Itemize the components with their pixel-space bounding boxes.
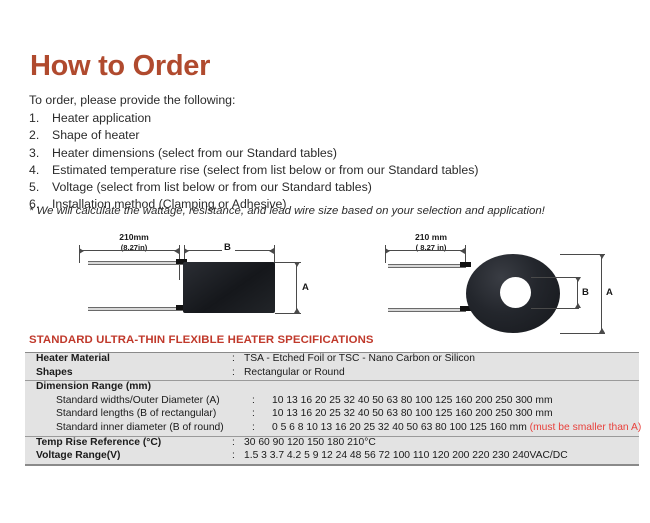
row-separator: : — [232, 450, 244, 461]
intro-text: To order, please provide the following: — [29, 93, 235, 107]
round-a-dim-line — [601, 254, 602, 333]
row-separator: : — [232, 353, 244, 364]
round-b-arrow-bottom — [575, 303, 581, 308]
row-label: Dimension Range (mm) — [25, 381, 232, 392]
row-value-text: 0 5 6 8 10 13 16 20 25 32 40 50 63 80 10… — [272, 422, 527, 433]
row-value-warning: (must be smaller than A) — [530, 422, 642, 433]
rect-lead-wire-bottom — [88, 307, 184, 311]
rect-lead-wire-top — [88, 261, 184, 265]
row-label: Standard lengths (B of rectangular) — [25, 408, 252, 419]
list-item: 5. Voltage (select from list below or fr… — [29, 179, 629, 196]
spec-table: Heater Material : TSA - Etched Foil or T… — [25, 352, 639, 466]
list-item-number: 3. — [29, 145, 52, 162]
round-lead-wire-bottom — [388, 308, 466, 312]
rect-a-dim-line — [296, 262, 297, 313]
row-separator: : — [252, 408, 264, 419]
row-value: 10 13 16 20 25 32 40 50 63 80 100 125 16… — [264, 395, 639, 406]
row-separator: : — [252, 395, 264, 406]
row-label: Voltage Range(V) — [25, 450, 232, 461]
row-label: Heater Material — [25, 353, 232, 364]
list-item-number: 2. — [29, 127, 52, 144]
row-label: Standard inner diameter (B of round) — [25, 422, 252, 433]
row-label: Shapes — [25, 367, 232, 378]
order-steps-list: 1. Heater application 2. Shape of heater… — [29, 110, 629, 214]
row-value: Rectangular or Round — [244, 367, 639, 378]
round-lead-wire-top — [388, 264, 466, 268]
row-separator: : — [252, 422, 264, 433]
list-item-label: Heater application — [52, 110, 629, 127]
round-b-ext-bottom — [531, 308, 579, 309]
round-outer-label: A — [606, 287, 613, 298]
round-b-ext-top — [531, 277, 579, 278]
rect-b-ext-right — [274, 245, 275, 263]
rect-height-label: A — [302, 282, 309, 293]
rect-a-arrow-top — [294, 262, 300, 267]
rect-lead-dim-line — [79, 250, 179, 251]
row-label: Standard widths/Outer Diameter (A) — [25, 395, 252, 406]
spec-table-title: STANDARD ULTRA-THIN FLEXIBLE HEATER SPEC… — [29, 334, 374, 346]
table-row: Shapes : Rectangular or Round — [25, 367, 639, 381]
row-separator: : — [232, 367, 244, 378]
table-row: Standard widths/Outer Diameter (A) : 10 … — [25, 395, 639, 409]
rect-width-label: B — [224, 242, 231, 253]
row-value: 10 13 16 20 25 32 40 50 63 80 100 125 16… — [264, 408, 639, 419]
list-item-label: Estimated temperature rise (select from … — [52, 162, 629, 179]
row-value: TSA - Etched Foil or TSC - Nano Carbon o… — [244, 353, 639, 364]
rect-a-arrow-bottom — [294, 308, 300, 313]
list-item: 3. Heater dimensions (select from our St… — [29, 145, 629, 162]
row-value: 0 5 6 8 10 13 16 20 25 32 40 50 63 80 10… — [264, 422, 641, 433]
round-a-arrow-top — [599, 254, 605, 259]
product-diagrams: 210mm (8.27in) B — [0, 228, 650, 338]
round-inner-label: B — [582, 287, 589, 298]
list-item-number: 5. — [29, 179, 52, 196]
footnote: * We will calculate the wattage, resista… — [29, 205, 545, 217]
round-lead-dim-line — [385, 250, 465, 251]
rect-a-ext-bottom — [275, 313, 301, 314]
table-row: Temp Rise Reference (°C) : 30 60 90 120 … — [25, 436, 639, 451]
datasheet-page: How to Order To order, please provide th… — [0, 0, 650, 523]
table-row: Voltage Range(V) : 1.5 3 3.7 4.2 5 9 12 … — [25, 450, 639, 464]
list-item-label: Voltage (select from list below or from … — [52, 179, 629, 196]
row-separator: : — [232, 437, 244, 448]
round-a-ext-bottom — [560, 333, 605, 334]
list-item-label: Heater dimensions (select from our Stand… — [52, 145, 629, 162]
round-wire-connector-top — [460, 262, 471, 267]
list-item-number: 1. — [29, 110, 52, 127]
table-row: Standard inner diameter (B of round) : 0… — [25, 422, 639, 436]
table-row: Heater Material : TSA - Etched Foil or T… — [25, 353, 639, 367]
list-item: 4. Estimated temperature rise (select fr… — [29, 162, 629, 179]
table-row: Dimension Range (mm) — [25, 380, 639, 395]
round-a-arrow-bottom — [599, 328, 605, 333]
round-lead-ext-left — [385, 245, 386, 263]
row-value: 30 60 90 120 150 180 210°C — [244, 437, 639, 448]
list-item-label: Shape of heater — [52, 127, 629, 144]
row-value: 1.5 3 3.7 4.2 5 9 12 24 48 56 72 100 110… — [244, 450, 639, 461]
list-item-number: 4. — [29, 162, 52, 179]
rect-heater-body — [183, 262, 275, 313]
list-item: 2. Shape of heater — [29, 127, 629, 144]
round-heater-inner-hole — [500, 277, 531, 308]
list-item: 1. Heater application — [29, 110, 629, 127]
table-row: Standard lengths (B of rectangular) : 10… — [25, 408, 639, 422]
rect-lead-ext-left — [79, 245, 80, 263]
round-b-arrow-top — [575, 277, 581, 282]
page-title: How to Order — [30, 50, 210, 83]
row-label: Temp Rise Reference (°C) — [25, 437, 232, 448]
rect-b-line-left — [184, 250, 222, 251]
